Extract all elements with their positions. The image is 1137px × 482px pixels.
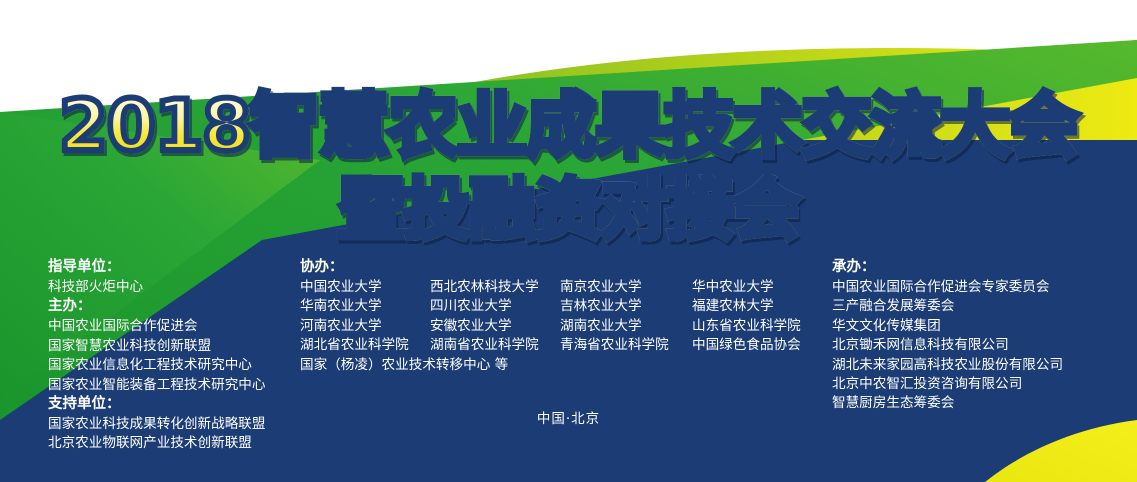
credit-line: 湖北未来家园高科技农业股份有限公司 [832, 356, 1132, 375]
credit-line: 中国农业国际合作促进会专家委员会 [832, 278, 1132, 297]
coorganizer-item: 湖南省农业科学院 [430, 336, 560, 355]
coorganizer-last-line: 国家（杨凌）农业技术转移中心 等 [300, 356, 820, 375]
coorganizer-item: 湖南农业大学 [560, 317, 692, 336]
credit-line: 北京锄禾网信息科技有限公司 [832, 336, 1132, 355]
coorganizer-item: 中国绿色食品协会 [692, 336, 820, 355]
coorganizer-item: 南京农业大学 [560, 278, 692, 297]
coorganizer-item: 西北农林科技大学 [430, 278, 560, 297]
credits-area: 指导单位： 科技部火炬中心 主办： 中国农业国际合作促进会 国家智慧农业科技创新… [0, 258, 1137, 458]
credit-head-guidance: 指导单位： [48, 258, 298, 277]
coorganizer-item: 湖北省农业科学院 [300, 336, 430, 355]
coorganizer-grid: 中国农业大学 西北农林科技大学 南京农业大学 华中农业大学 华南农业大学 四川农… [300, 278, 820, 356]
credit-line: 华文文化传媒集团 [832, 317, 1132, 336]
coorganizer-item: 山东省农业科学院 [692, 317, 820, 336]
credit-block-host: 主办： 中国农业国际合作促进会 国家智慧农业科技创新联盟 国家农业信息化工程技术… [48, 297, 298, 395]
coorganizer-item: 华中农业大学 [692, 278, 820, 297]
credits-column-middle: 协办： 中国农业大学 西北农林科技大学 南京农业大学 华中农业大学 华南农业大学… [300, 258, 820, 375]
location-text: 中国·北京 [0, 407, 1137, 427]
credit-line: 北京中农智汇投资咨询有限公司 [832, 375, 1132, 394]
credit-line: 中国农业国际合作促进会 [48, 317, 298, 336]
coorganizer-item: 中国农业大学 [300, 278, 430, 297]
coorganizer-item: 青海省农业科学院 [560, 336, 692, 355]
credit-head-host: 主办： [48, 297, 298, 316]
coorganizer-item: 四川农业大学 [430, 297, 560, 316]
credit-line: 三产融合发展筹委会 [832, 297, 1132, 316]
credit-line: 国家农业智能装备工程技术研究中心 [48, 376, 298, 395]
credit-line: 北京农业物联网产业技术创新联盟 [48, 434, 298, 453]
coorganizer-item: 吉林农业大学 [560, 297, 692, 316]
coorganizer-item: 安徽农业大学 [430, 317, 560, 336]
credit-line: 国家农业信息化工程技术研究中心 [48, 356, 298, 375]
credit-line: 国家智慧农业科技创新联盟 [48, 337, 298, 356]
credit-head-organizer: 承办： [832, 258, 1132, 277]
coorganizer-item: 河南农业大学 [300, 317, 430, 336]
credits-column-right: 承办： 中国农业国际合作促进会专家委员会 三产融合发展筹委会 华文文化传媒集团 … [832, 258, 1132, 414]
credit-block-guidance: 指导单位： 科技部火炬中心 [48, 258, 298, 297]
credit-head-coorganizer: 协办： [300, 258, 820, 277]
credit-line: 科技部火炬中心 [48, 278, 298, 297]
coorganizer-item: 华南农业大学 [300, 297, 430, 316]
coorganizer-item: 福建农林大学 [692, 297, 820, 316]
conference-banner: 2018智慧农业成果技术交流大会 暨投融资对接会 指导单位： 科技部火炬中心 主… [0, 0, 1137, 482]
